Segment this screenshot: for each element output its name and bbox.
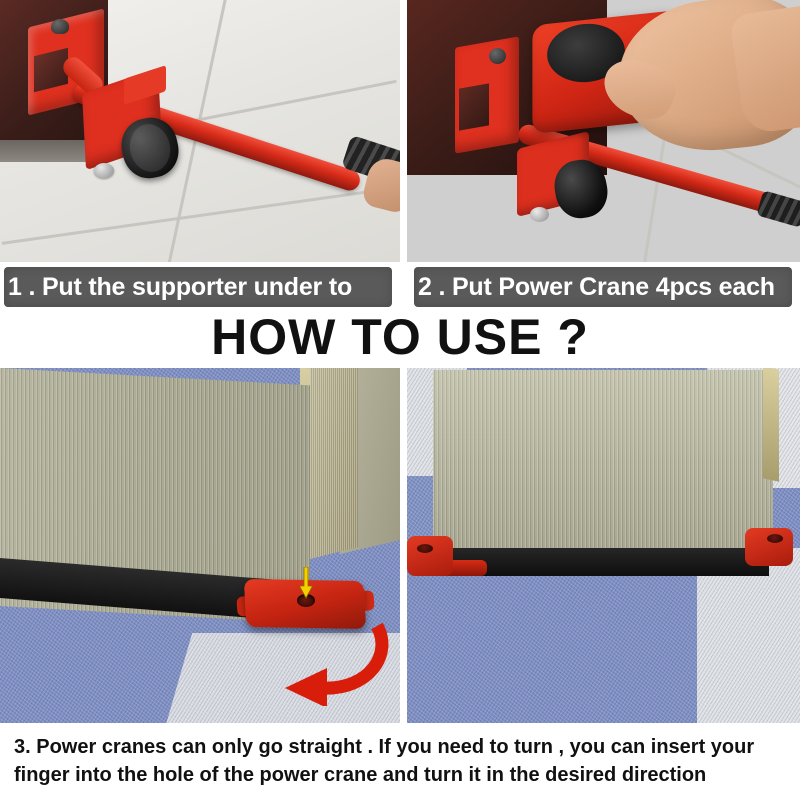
roller-right-finger-hole [767, 534, 783, 543]
lifter-fork-notch [459, 83, 489, 130]
cabinet-side [306, 368, 358, 560]
curved-turn-arrow-icon [265, 620, 395, 706]
cabinet-front [433, 370, 773, 552]
lifter-axle-bolt [94, 163, 114, 178]
lifter-bolt [51, 19, 69, 34]
page-title: HOW TO USE ? [0, 311, 800, 363]
cabinet-corner-edge [763, 368, 779, 482]
step-2-caption: 2 . Put Power Crane 4pcs each [414, 267, 792, 307]
roller-left-finger-hole [417, 544, 433, 553]
step-1-caption: 1 . Put the supporter under to [4, 267, 392, 307]
power-crane-roller-left [407, 536, 453, 576]
down-arrow-icon [299, 567, 313, 599]
step-3-instruction-text: 3. Power cranes can only go straight . I… [14, 733, 794, 789]
lifter-bolt [489, 48, 506, 64]
lifter-axle-bolt [530, 207, 549, 222]
step-1-photo [0, 0, 400, 262]
step-3-photo [0, 368, 400, 723]
how-to-use-infographic: 1 . Put the supporter under to 2 . Put P… [0, 0, 800, 800]
cabinet-base [0, 140, 96, 162]
handle-grip [756, 190, 800, 228]
step-2-photo [407, 0, 800, 262]
step-4-photo [407, 368, 800, 723]
power-crane-roller-right [745, 528, 793, 566]
